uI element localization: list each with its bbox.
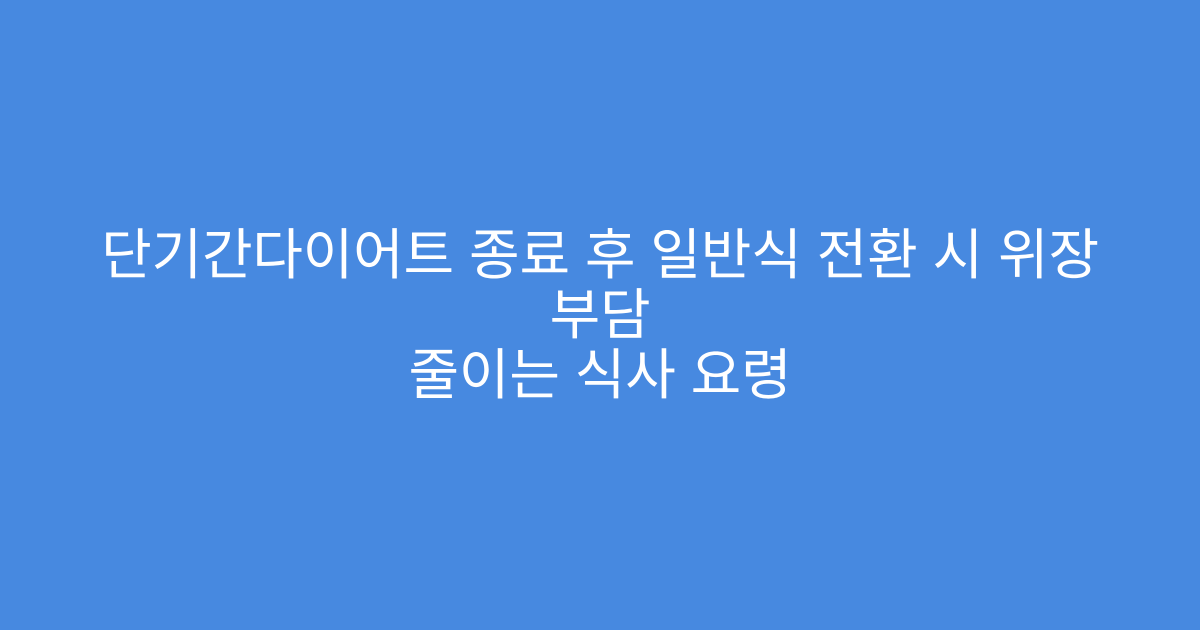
headline-line-2: 줄이는 식사 요령 (65, 345, 1135, 405)
page-title: 단기간다이어트 종료 후 일반식 전환 시 위장 부담 줄이는 식사 요령 (65, 225, 1135, 405)
share-card-canvas: 단기간다이어트 종료 후 일반식 전환 시 위장 부담 줄이는 식사 요령 (0, 0, 1200, 630)
headline-line-1: 단기간다이어트 종료 후 일반식 전환 시 위장 부담 (65, 225, 1135, 345)
headline-block: 단기간다이어트 종료 후 일반식 전환 시 위장 부담 줄이는 식사 요령 (0, 225, 1200, 405)
